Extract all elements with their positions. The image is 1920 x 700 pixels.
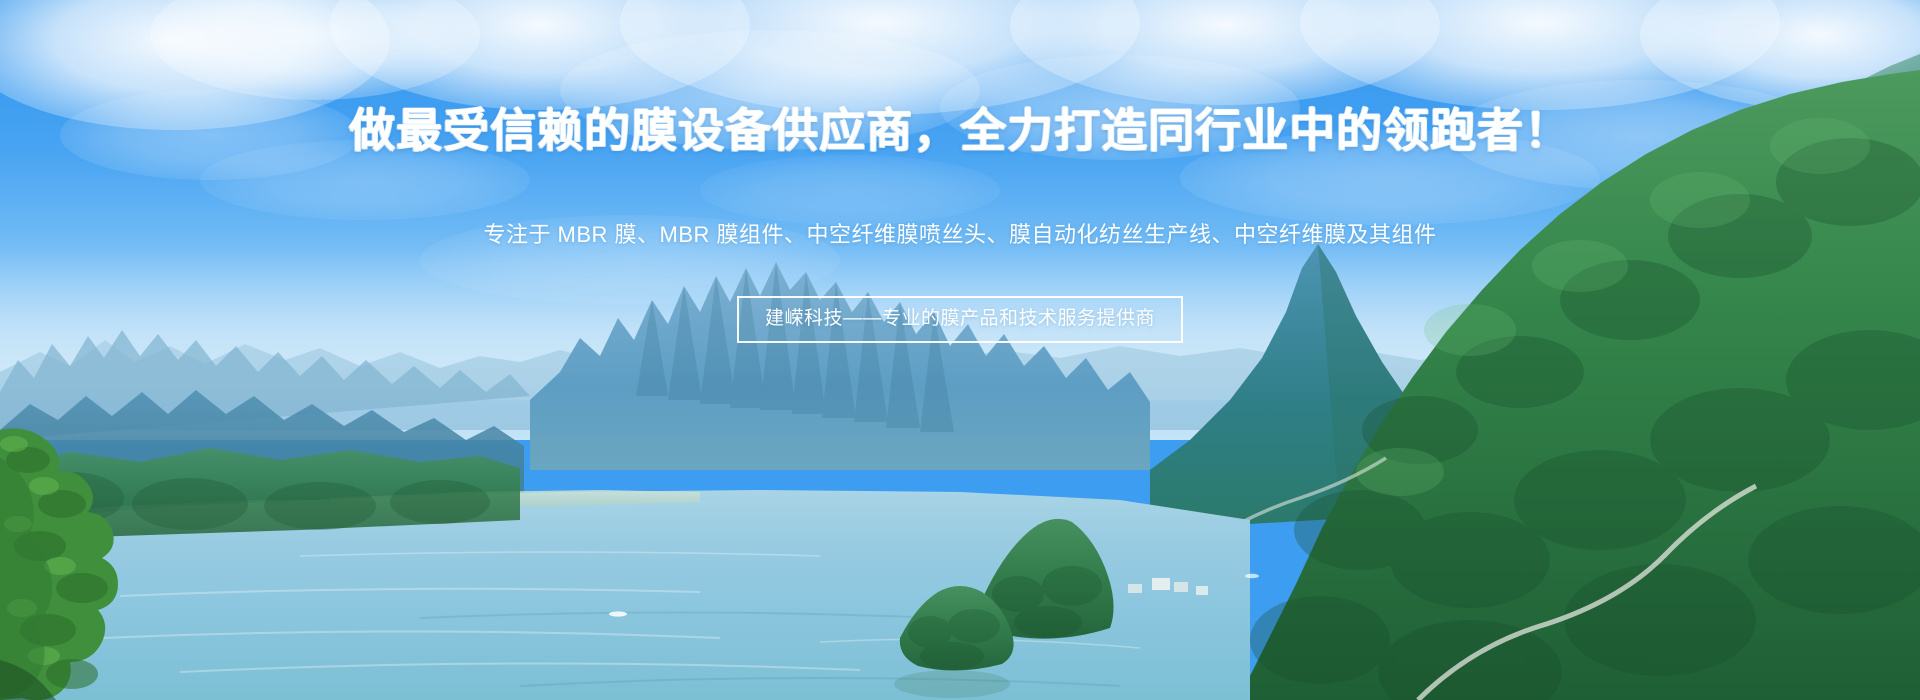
banner-subheadline: 专注于 MBR 膜、MBR 膜组件、中空纤维膜喷丝头、膜自动化纺丝生产线、中空纤…	[0, 220, 1920, 250]
banner-headline: 做最受信赖的膜设备供应商，全力打造同行业中的领跑者！	[0, 104, 1920, 156]
hero-banner: 做最受信赖的膜设备供应商，全力打造同行业中的领跑者！ 专注于 MBR 膜、MBR…	[0, 0, 1920, 700]
island-reflection	[894, 670, 1010, 698]
banner-tagline-wrap: 建嵘科技——专业的膜产品和技术服务提供商	[0, 296, 1920, 343]
banner-tagline-box: 建嵘科技——专业的膜产品和技术服务提供商	[737, 296, 1183, 343]
